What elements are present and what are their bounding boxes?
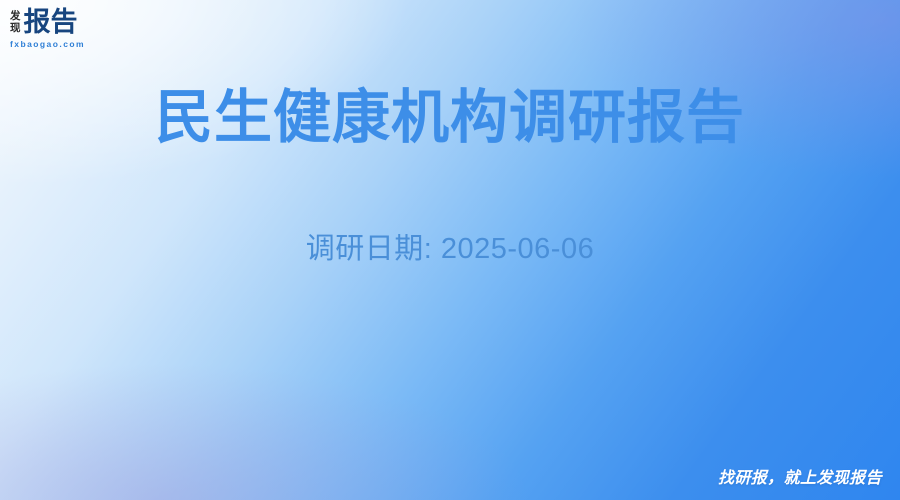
logo-mark-line1: 发 xyxy=(10,11,21,22)
survey-date-subtitle: 调研日期: 2025-06-06 xyxy=(0,232,900,267)
logo-stacked-mark: 发 现 xyxy=(10,11,21,36)
site-logo[interactable]: 发 现 报告 fxbaogao.com xyxy=(10,9,85,49)
logo-wordmark: 报告 xyxy=(24,9,78,36)
page-title: 民生健康机构调研报告 xyxy=(0,86,900,151)
logo-wordmark-row: 发 现 报告 xyxy=(10,9,78,36)
report-cover-slide: 发 现 报告 fxbaogao.com 民生健康机构调研报告 调研日期: 202… xyxy=(0,0,900,500)
footer-tagline: 找研报，就上发现报告 xyxy=(718,464,882,488)
logo-domain-text: fxbaogao.com xyxy=(10,40,85,49)
logo-mark-line2: 现 xyxy=(10,23,21,34)
